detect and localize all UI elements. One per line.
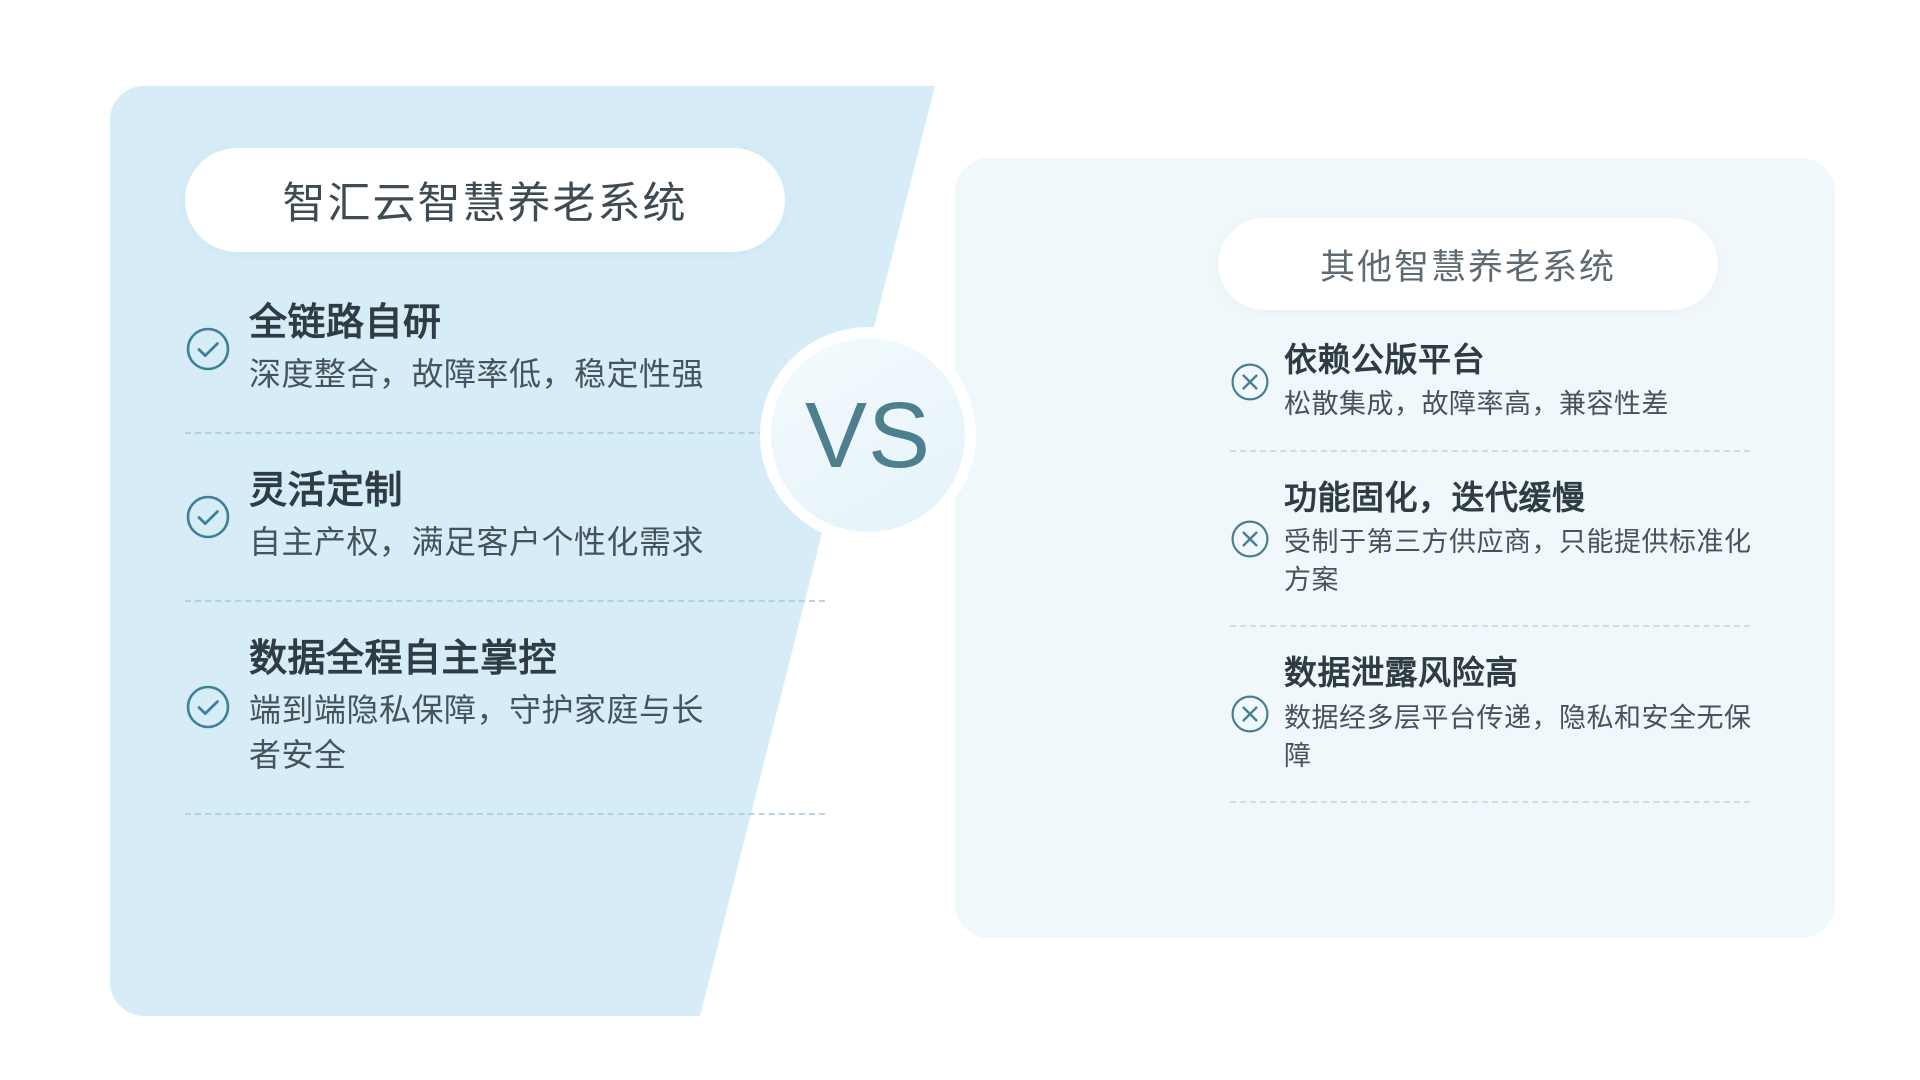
list-item: 依赖公版平台 松散集成，故障率高，兼容性差 bbox=[1230, 340, 1770, 424]
list-item: 全链路自研 深度整合，故障率低，稳定性强 bbox=[185, 300, 845, 398]
list-item: 灵活定制 自主产权，满足客户个性化需求 bbox=[185, 468, 845, 566]
cross-circle-icon bbox=[1230, 694, 1270, 734]
cross-circle-icon bbox=[1230, 519, 1270, 559]
list-item-desc: 受制于第三方供应商，只能提供标准化方案 bbox=[1284, 523, 1754, 600]
right-panel-header-pill: 其他智慧养老系统 bbox=[1218, 218, 1718, 310]
list-item-body: 依赖公版平台 松散集成，故障率高，兼容性差 bbox=[1284, 340, 1770, 424]
list-item-body: 功能固化，迭代缓慢 受制于第三方供应商，只能提供标准化方案 bbox=[1284, 478, 1770, 600]
divider bbox=[1230, 450, 1750, 452]
divider bbox=[1230, 801, 1750, 803]
comparison-infographic: 智汇云智慧养老系统 其他智慧养老系统 全链路自研 深度整合，故障率低，稳定性强 bbox=[0, 0, 1920, 1080]
list-item-title: 依赖公版平台 bbox=[1284, 340, 1770, 380]
list-item-title: 数据全程自主掌控 bbox=[249, 636, 845, 682]
vs-badge-icon: VS bbox=[760, 327, 976, 543]
list-item-desc: 数据经多层平台传递，隐私和安全无保障 bbox=[1284, 699, 1754, 776]
list-item-body: 全链路自研 深度整合，故障率低，稳定性强 bbox=[249, 300, 845, 398]
divider bbox=[185, 813, 825, 815]
list-item-desc: 深度整合，故障率低，稳定性强 bbox=[249, 352, 845, 397]
list-item: 功能固化，迭代缓慢 受制于第三方供应商，只能提供标准化方案 bbox=[1230, 478, 1770, 600]
right-panel-title: 其他智慧养老系统 bbox=[1320, 239, 1616, 290]
list-item-body: 灵活定制 自主产权，满足客户个性化需求 bbox=[249, 468, 845, 566]
list-item-desc: 自主产权，满足客户个性化需求 bbox=[249, 520, 845, 565]
list-item-title: 灵活定制 bbox=[249, 468, 845, 514]
list-item-desc: 端到端隐私保障，守护家庭与长者安全 bbox=[249, 688, 729, 779]
list-item: 数据全程自主掌控 端到端隐私保障，守护家庭与长者安全 bbox=[185, 636, 845, 779]
list-item-body: 数据全程自主掌控 端到端隐私保障，守护家庭与长者安全 bbox=[249, 636, 845, 779]
drawbacks-list: 依赖公版平台 松散集成，故障率高，兼容性差 功能固化，迭代缓慢 受制于第三方供应… bbox=[1230, 340, 1770, 829]
list-item-desc: 松散集成，故障率高，兼容性差 bbox=[1284, 385, 1770, 423]
advantages-list: 全链路自研 深度整合，故障率低，稳定性强 灵活定制 自主产权，满足客户个性化需求 bbox=[185, 300, 845, 849]
list-item-body: 数据泄露风险高 数据经多层平台传递，隐私和安全无保障 bbox=[1284, 653, 1770, 775]
divider bbox=[1230, 625, 1750, 627]
list-item-title: 数据泄露风险高 bbox=[1284, 653, 1770, 693]
divider bbox=[185, 600, 825, 602]
left-panel-title: 智汇云智慧养老系统 bbox=[283, 169, 688, 231]
list-item-title: 功能固化，迭代缓慢 bbox=[1284, 478, 1770, 518]
left-panel-header-pill: 智汇云智慧养老系统 bbox=[185, 148, 785, 252]
check-circle-icon bbox=[185, 326, 231, 372]
vs-label: VS bbox=[805, 389, 931, 482]
cross-circle-icon bbox=[1230, 362, 1270, 402]
check-circle-icon bbox=[185, 494, 231, 540]
check-circle-icon bbox=[185, 684, 231, 730]
divider bbox=[185, 432, 825, 434]
list-item: 数据泄露风险高 数据经多层平台传递，隐私和安全无保障 bbox=[1230, 653, 1770, 775]
list-item-title: 全链路自研 bbox=[249, 300, 845, 346]
